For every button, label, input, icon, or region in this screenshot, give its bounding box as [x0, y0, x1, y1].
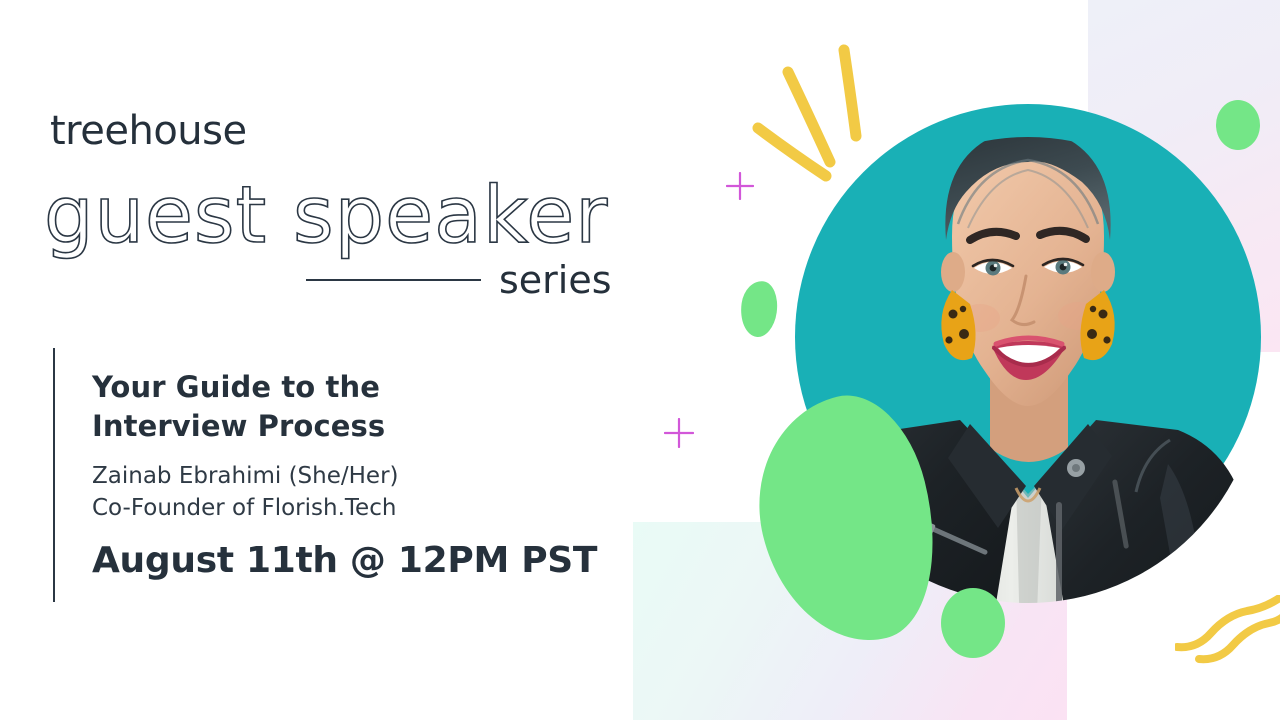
info-vertical-rule [53, 348, 55, 602]
talk-title: Your Guide to the Interview Process [92, 368, 632, 445]
series-divider-rule [306, 279, 481, 281]
headline-guest-speaker: guest speaker [34, 160, 654, 270]
event-datetime: August 11th @ 12PM PST [92, 540, 632, 581]
pink-plus-mark-bottom-icon [664, 418, 694, 448]
headline-outline-text: guest speaker [44, 171, 608, 261]
event-info-block: Your Guide to the Interview Process Zain… [92, 368, 632, 581]
brand-wordmark: treehouse [50, 108, 247, 154]
speaker-name: Zainab Ebrahimi (She/Her) [92, 461, 632, 493]
series-label: series [499, 258, 612, 302]
green-blob-mid-icon [737, 279, 780, 339]
green-blob-small-icon [941, 588, 1005, 658]
series-row: series [306, 256, 636, 304]
speaker-role: Co-Founder of Florish.Tech [92, 493, 632, 525]
yellow-sparkle-strokes-icon [750, 40, 890, 205]
yellow-squiggle-lines-icon [1175, 595, 1280, 670]
slide-canvas: treehouse guest speaker series Your Guid… [0, 0, 1280, 720]
pink-plus-mark-top-icon [726, 172, 754, 200]
